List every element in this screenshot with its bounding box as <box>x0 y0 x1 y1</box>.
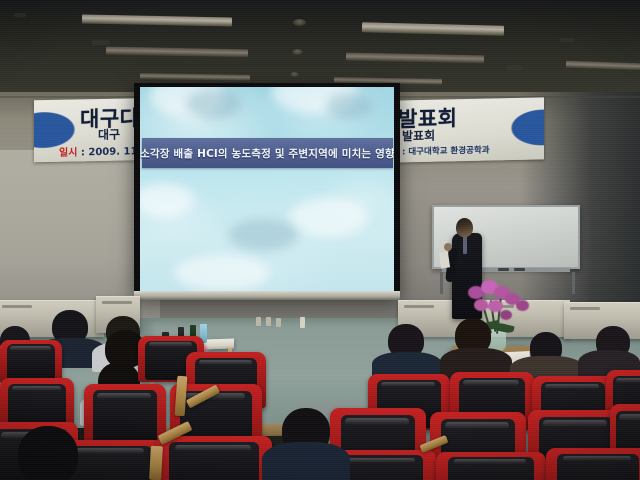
seat-highlight <box>381 382 435 388</box>
whiteboard-marker <box>514 268 525 271</box>
seat-highlight <box>339 458 416 463</box>
banner-left-subtitle: 대구 <box>98 126 120 143</box>
seat-highlight <box>454 459 527 464</box>
whiteboard-leg <box>440 272 443 294</box>
cloud-shape <box>326 93 374 119</box>
projection-screen: 소각장 배출 HCl의 농도측정 및 주변지역에 미치는 영향 <box>134 83 400 297</box>
ceiling-mark <box>506 65 522 70</box>
seat-highlight <box>563 456 632 462</box>
seat-highlight <box>545 384 599 390</box>
attendee-shoulders <box>262 442 350 480</box>
ceiling-mark <box>14 13 26 17</box>
projection-screen-bottom-rail <box>134 291 400 300</box>
presenter-head <box>456 218 473 237</box>
ceiling-mark <box>560 38 574 42</box>
seat-highlight <box>199 360 252 366</box>
cloud-shape <box>140 183 194 217</box>
seat-highlight <box>175 445 252 451</box>
ceiling-light-fixture <box>566 61 640 71</box>
audience-area <box>0 300 640 480</box>
banner-date-label: 일시 <box>59 147 77 158</box>
ceiling <box>0 0 640 96</box>
projected-slide: 소각장 배출 HCl의 농도측정 및 주변지역에 미치는 영향 <box>140 87 394 292</box>
ceiling-speaker-icon <box>292 49 303 55</box>
banner-right-subtitle: 발표회 <box>402 127 435 145</box>
lecture-hall-photo: 대구다 대구 일시 : 2009. 11. 20(금) 발표회 발표회 : 대구… <box>0 0 640 480</box>
seat-highlight <box>445 422 508 429</box>
presenter-hand <box>444 243 452 251</box>
cloud-shape <box>174 255 270 291</box>
seat-highlight <box>619 414 640 421</box>
ceiling-speaker-icon <box>290 72 299 77</box>
slide-title-text: 소각장 배출 HCl의 농도측정 및 주변지역에 미치는 영향 <box>140 146 394 161</box>
seat-highlight <box>463 380 518 386</box>
seat[interactable] <box>156 436 272 480</box>
seat-highlight <box>72 448 145 454</box>
ceiling-mark <box>92 40 110 45</box>
whiteboard-marker <box>498 268 509 271</box>
slide-title-bar: 소각장 배출 HCl의 농도측정 및 주변지역에 미치는 영향 <box>142 138 393 168</box>
banner-right: 발표회 발표회 : 대구대학교 환경공학과 <box>392 97 544 162</box>
seat[interactable] <box>546 448 640 480</box>
banner-right-organization: : 대구대학교 환경공학과 <box>402 144 490 158</box>
presenter-tie <box>463 236 467 254</box>
whiteboard-leg <box>572 272 575 294</box>
seat-highlight <box>12 386 61 392</box>
cloud-shape <box>290 197 368 237</box>
ceiling-light-fixture <box>140 73 250 81</box>
seat-highlight <box>543 420 606 427</box>
ceiling-speaker-icon <box>293 19 306 26</box>
attendee-head <box>18 426 78 480</box>
seat-highlight <box>10 346 51 350</box>
ceiling-light-fixture <box>362 22 504 35</box>
seat-tablet-arm[interactable] <box>149 446 163 480</box>
seat[interactable] <box>84 384 166 446</box>
seat-highlight <box>149 342 193 347</box>
cloud-shape <box>186 89 242 119</box>
ceiling-light-fixture <box>82 14 232 26</box>
seat-highlight <box>345 418 408 425</box>
seat[interactable] <box>436 452 546 480</box>
seat-highlight <box>616 378 640 384</box>
ceiling-light-fixture <box>106 47 248 58</box>
ceiling-light-fixture <box>346 53 484 64</box>
cloud-shape <box>228 219 298 251</box>
seat-highlight <box>97 393 151 399</box>
